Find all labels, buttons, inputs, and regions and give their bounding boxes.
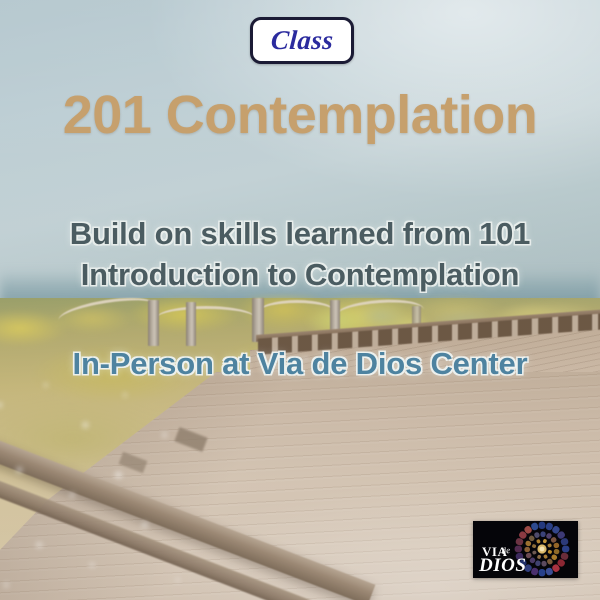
class-badge: Class xyxy=(250,17,354,64)
logo-artwork: VIA de DIOS xyxy=(473,521,578,578)
rope-swag xyxy=(156,306,256,331)
subtitle-line-2: Introduction to Contemplation xyxy=(0,255,600,296)
class-promo-poster: Class 201 Contemplation Build on skills … xyxy=(0,0,600,600)
rope-swag xyxy=(258,300,336,325)
location-line: In-Person at Via de Dios Center xyxy=(0,348,600,379)
subtitle-line-1: Build on skills learned from 101 xyxy=(0,214,600,255)
wildflowers-foreground xyxy=(0,360,290,600)
page-title: 201 Contemplation xyxy=(0,88,600,142)
subtitle: Build on skills learned from 101 Introdu… xyxy=(0,214,600,296)
class-badge-label: Class xyxy=(270,27,334,54)
logo-word-dios: DIOS xyxy=(478,555,526,576)
via-de-dios-logo: VIA de DIOS xyxy=(473,521,578,578)
